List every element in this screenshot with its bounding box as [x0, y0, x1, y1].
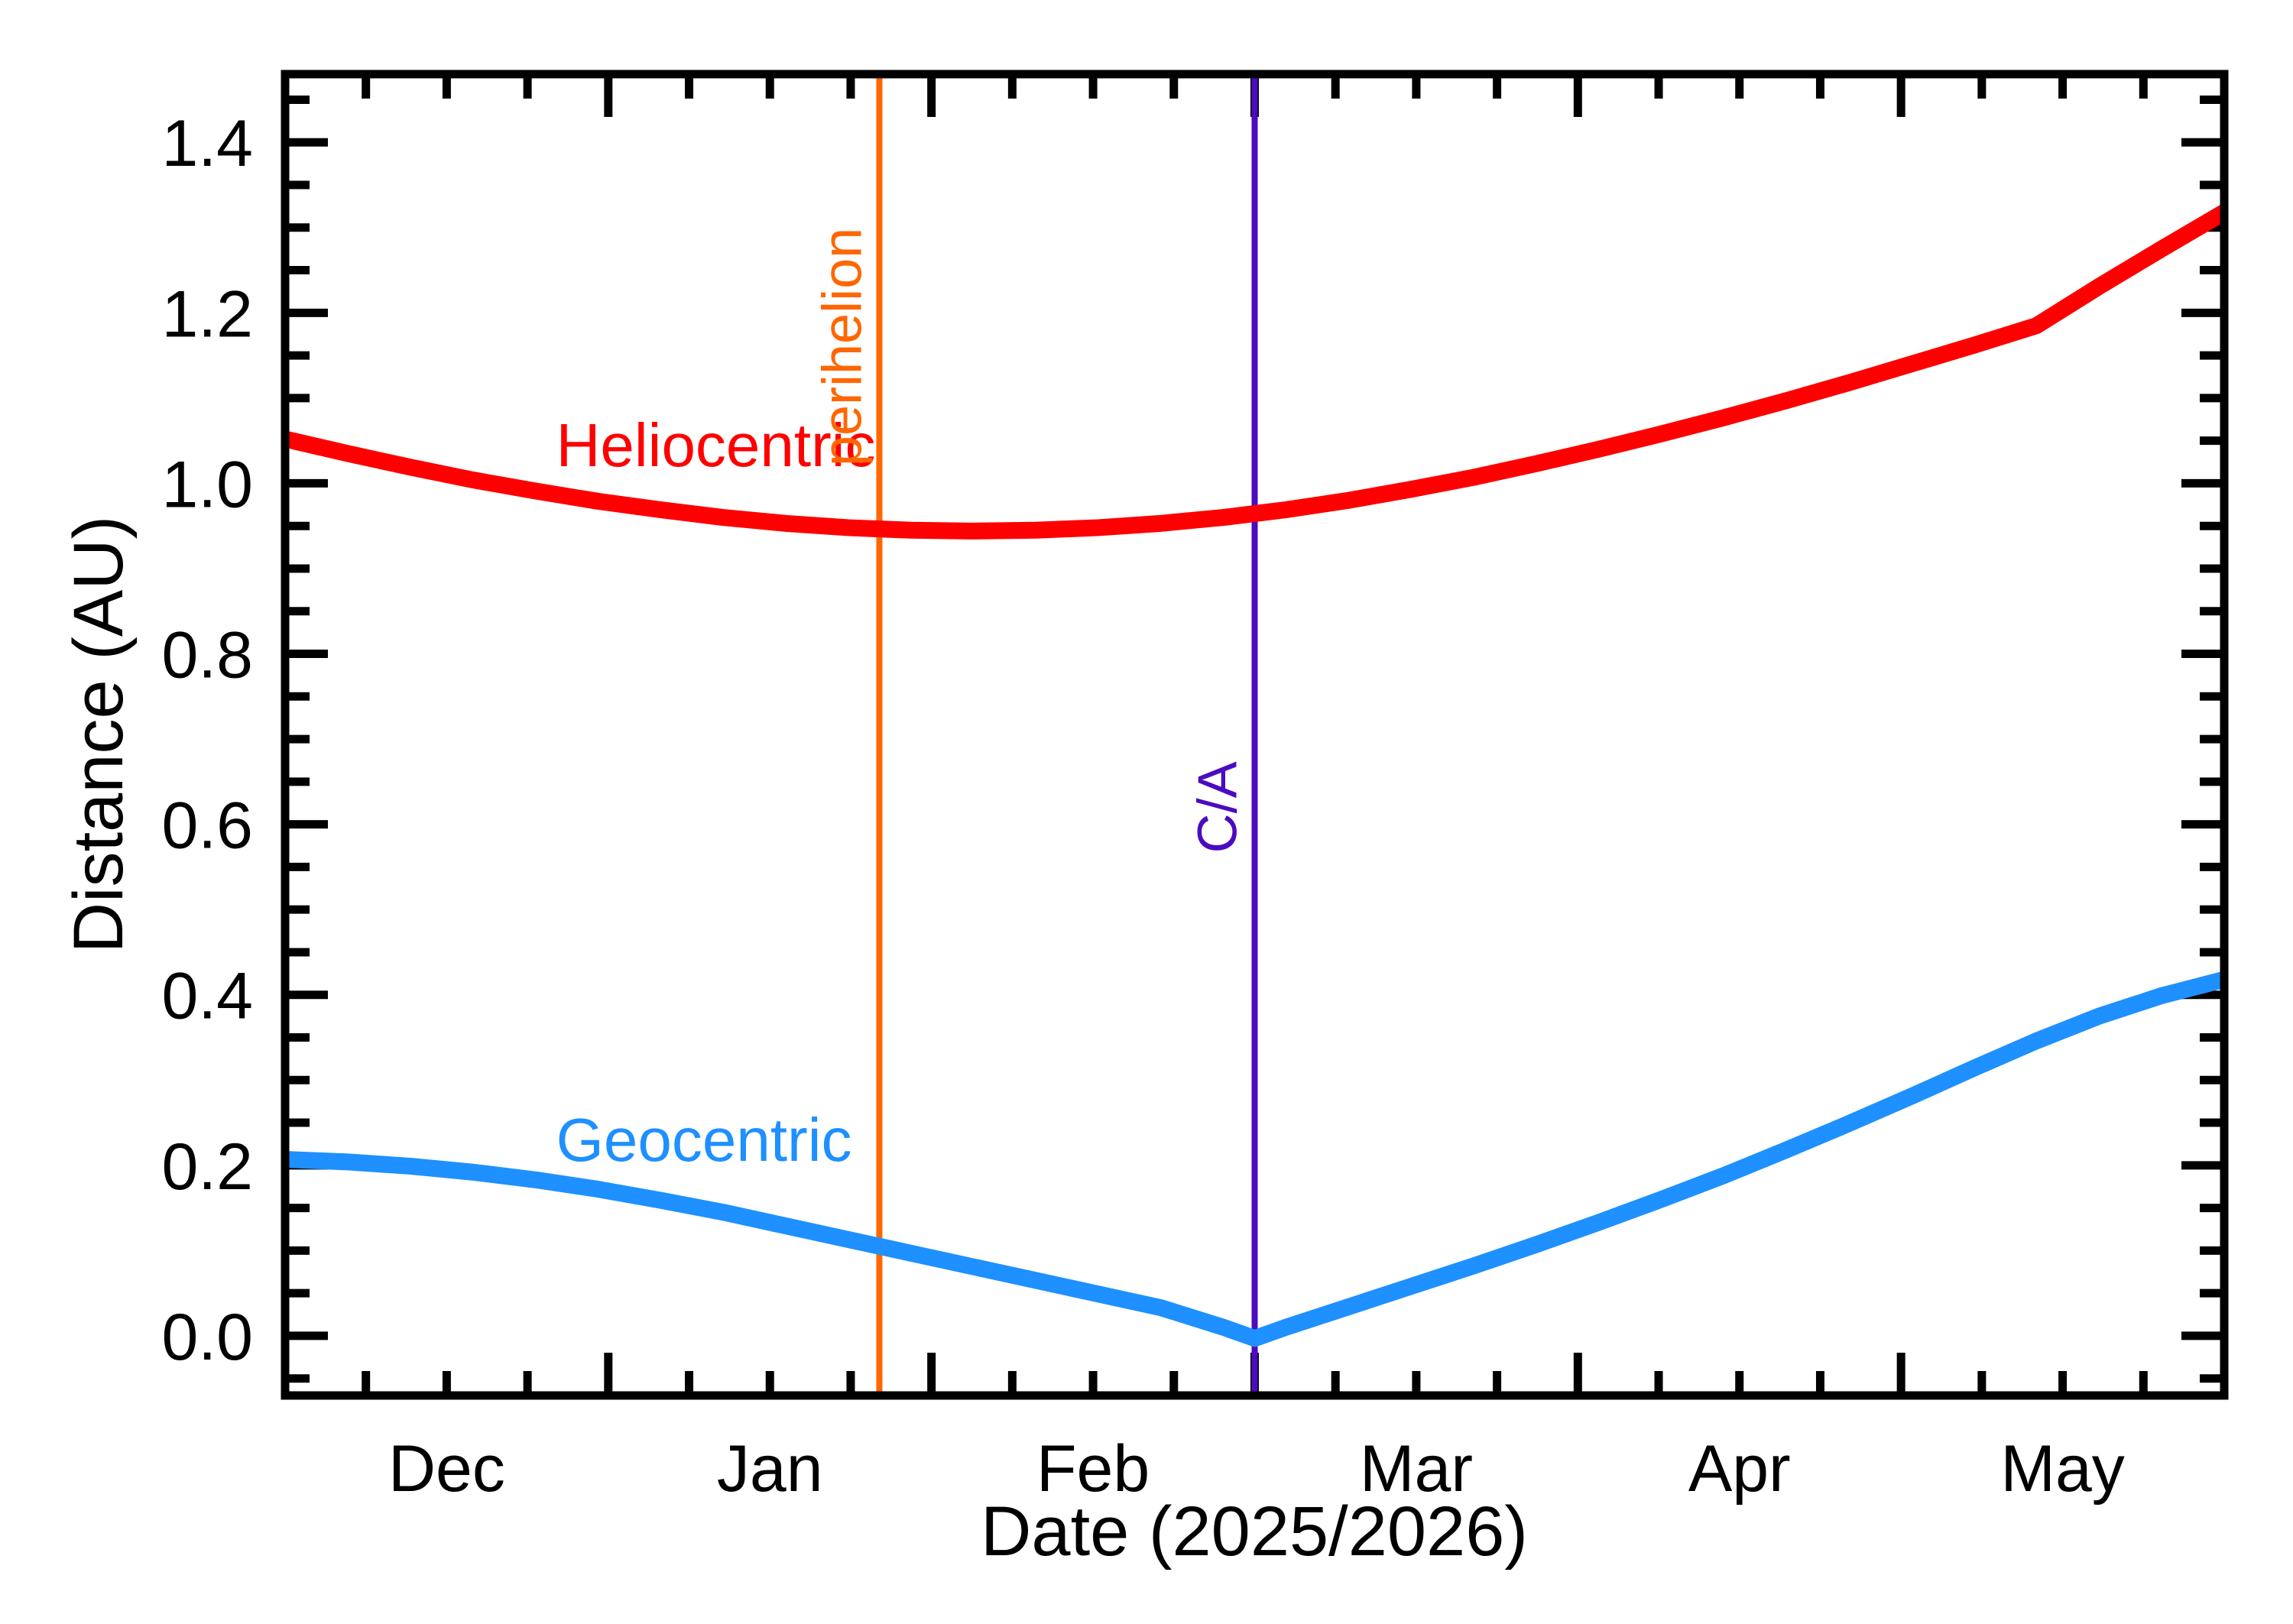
x-tick-label: Apr: [1688, 1432, 1791, 1506]
y-tick-label: 0.2: [161, 1130, 253, 1204]
y-tick-label: 1.4: [161, 107, 253, 180]
distance-vs-date-chart: 0.00.20.40.60.81.01.21.4DecJanFebMarAprM…: [0, 0, 2293, 1624]
y-tick-label: 0.0: [161, 1301, 253, 1374]
y-axis-title: Distance (AU): [60, 516, 138, 954]
chart-root: 0.00.20.40.60.81.01.21.4DecJanFebMarAprM…: [0, 0, 2293, 1624]
y-tick-label: 1.2: [161, 277, 253, 351]
y-tick-label: 0.6: [161, 789, 253, 863]
y-tick-label: 0.8: [161, 619, 253, 692]
event-label-c-a: C/A: [1188, 761, 1249, 853]
chart-background: [0, 0, 2293, 1624]
y-tick-label: 0.4: [161, 960, 253, 1033]
event-label-perihelion: perihelion: [812, 228, 873, 466]
x-axis-title: Date (2025/2026): [981, 1493, 1528, 1571]
x-tick-label: Jan: [717, 1432, 823, 1506]
x-tick-label: May: [2000, 1432, 2124, 1506]
x-tick-label: Dec: [388, 1432, 505, 1506]
series-label-geocentric: Geocentric: [556, 1106, 852, 1174]
y-tick-label: 1.0: [161, 448, 253, 521]
